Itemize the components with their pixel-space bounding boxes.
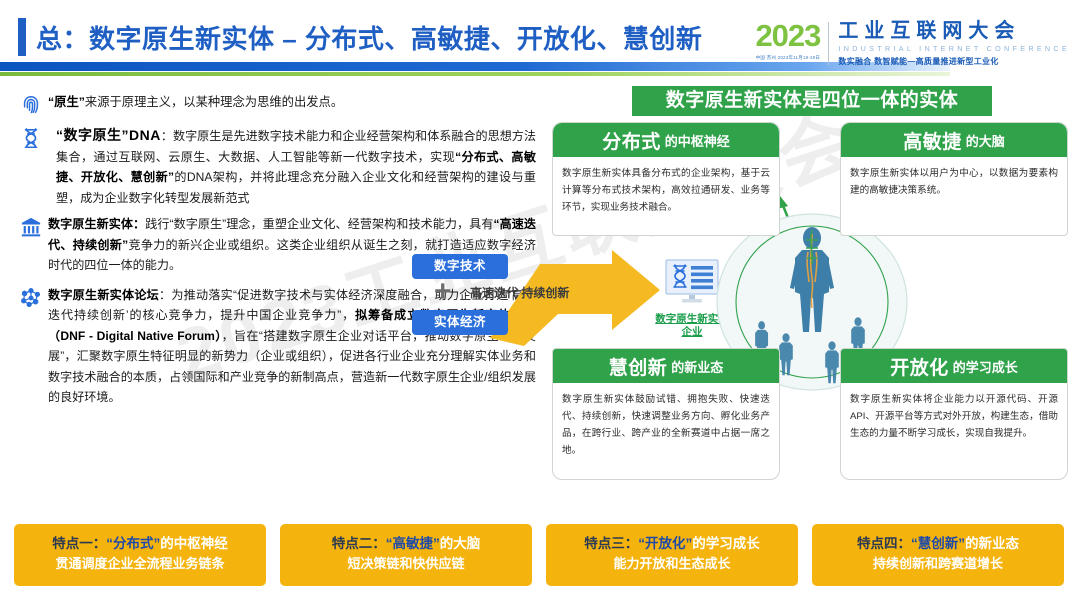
quadrant-body: 数字原生新实体以用户为中心，以数据为要素构建的高敏捷决策系统。 [841, 157, 1067, 235]
quadrant-title-small: 的中枢神经 [665, 131, 730, 150]
bullet-lead: 数字原生新实体论坛 [48, 288, 159, 302]
feature-line1: 特点三：“开放化”的学习成长 [546, 533, 798, 554]
feature-line2: 贯通调度企业全流程业务链条 [14, 554, 266, 574]
feature-prefix: 特点三： [584, 536, 638, 551]
quadrant-header: 慧创新 的新业态 [553, 349, 779, 383]
plus-icon: + [434, 278, 452, 306]
quadrant-card-innovation: 慧创新 的新业态 数字原生新实体鼓励试错、拥抱失败、快速迭代、持续创新，快速调整… [552, 348, 780, 480]
feature-line1: 特点四：“慧创新”的新业态 [812, 533, 1064, 554]
quadrant-title-big: 分布式 [602, 127, 661, 154]
logo-chinese-name: 工业互联网大会 [838, 20, 1070, 43]
network-nodes-icon [14, 285, 48, 408]
logo-slogan: 数实融合 数智赋能—高质量推进新型工业化 [838, 56, 1070, 67]
bullet-text: “数字原生”DNA：数字原生是先进数字技术能力和企业经营架构和体系融合的思想方法… [48, 125, 536, 208]
logo-year: 2023 [755, 20, 820, 52]
feature-line2: 短决策链和快供应链 [280, 554, 532, 574]
feature-suffix: 的大脑 [440, 536, 481, 551]
feature-suffix: 的新业态 [965, 536, 1019, 551]
bullet-item: “原生”来源于原理主义，以某种理念为思维的出发点。 [14, 92, 536, 116]
quadrant-body: 数字原生新实体鼓励试错、拥抱失败、快速迭代、持续创新，快速调整业务方向、孵化业务… [553, 383, 779, 479]
real-economy-chip: 实体经济 [412, 310, 508, 335]
logo-year-block: 2023 中国·苏州 2023年11月19-20日 [755, 20, 828, 61]
header-rule-green [0, 72, 950, 76]
logo-english-name: INDUSTRIAL INTERNET CONFERENCE [838, 44, 1070, 53]
bullet-lead: “数字原生”DNA [56, 127, 161, 143]
bullet-lead: “原生” [48, 95, 85, 109]
feature-prefix: 特点二： [332, 536, 386, 551]
quadrant-card-distributed: 分布式 的中枢神经 数字原生新实体具备分布式的企业架构，基于云计算等分布式技术架… [552, 122, 780, 236]
quadrant-header: 开放化 的学习成长 [841, 349, 1067, 383]
bullet-text: “原生”来源于原理主义，以某种理念为思维的出发点。 [48, 92, 343, 116]
logo-name-block: 工业互联网大会 INDUSTRIAL INTERNET CONFERENCE 数… [838, 20, 1070, 67]
quadrant-card-agile: 高敏捷 的大脑 数字原生新实体以用户为中心，以数据为要素构建的高敏捷决策系统。 [840, 122, 1068, 236]
feature-bar-row: 特点一：“分布式”的中枢神经 贯通调度企业全流程业务链条 特点二：“高敏捷”的大… [0, 524, 1080, 594]
bullet-body-text: 践行“数字原生”理念，重塑企业文化、经营架构和技术能力，具有 [145, 217, 493, 231]
quadrant-title-small: 的大脑 [966, 131, 1005, 150]
feature-quoted: “慧创新” [911, 536, 965, 551]
feature-card-3: 特点三：“开放化”的学习成长 能力开放和生态成长 [546, 524, 798, 586]
digital-technology-chip: 数字技术 [412, 254, 508, 279]
four-in-one-diagram: 数字原生新实体是四位一体的实体 [544, 86, 1080, 510]
institution-icon [14, 214, 48, 276]
feature-prefix: 特点一： [52, 536, 106, 551]
quadrant-title-small: 的学习成长 [953, 357, 1018, 376]
feature-card-2: 特点二：“高敏捷”的大脑 短决策链和快供应链 [280, 524, 532, 586]
quadrant-title-big: 高敏捷 [903, 127, 962, 154]
feature-line1: 特点一：“分布式”的中枢神经 [14, 533, 266, 554]
quadrant-body: 数字原生新实体具备分布式的企业架构，基于云计算等分布式技术架构，高效拉通研发、业… [553, 157, 779, 235]
feature-card-1: 特点一：“分布式”的中枢神经 贯通调度企业全流程业务链条 [14, 524, 266, 586]
feature-card-4: 特点四：“慧创新”的新业态 持续创新和跨赛道增长 [812, 524, 1064, 586]
slide-header: 总：数字原生新实体 – 分布式、高敏捷、开放化、慧创新 2023 中国·苏州 2… [0, 0, 1080, 86]
feature-quoted: “开放化” [638, 536, 692, 551]
quadrant-body: 数字原生新实体将企业能力以开源代码、开源API、开源平台等方式对外开放，构建生态… [841, 383, 1067, 479]
logo-divider [828, 22, 829, 65]
title-group: 总：数字原生新实体 – 分布式、高敏捷、开放化、慧创新 [18, 18, 702, 56]
quadrant-card-open: 开放化 的学习成长 数字原生新实体将企业能力以开源代码、开源API、开源平台等方… [840, 348, 1068, 480]
feature-line2: 能力开放和生态成长 [546, 554, 798, 574]
page-title: 总：数字原生新实体 – 分布式、高敏捷、开放化、慧创新 [36, 19, 702, 56]
feature-line2: 持续创新和跨赛道增长 [812, 554, 1064, 574]
bullet-lead: 数字原生新实体： [48, 217, 145, 231]
bullet-item: “数字原生”DNA：数字原生是先进数字技术能力和企业经营架构和体系融合的思想方法… [14, 125, 536, 208]
feature-quoted: “分布式” [106, 536, 160, 551]
feature-line1: 特点二：“高敏捷”的大脑 [280, 533, 532, 554]
quadrant-title-big: 开放化 [890, 353, 949, 380]
feature-quoted: “高敏捷” [386, 536, 440, 551]
conference-logo: 2023 中国·苏州 2023年11月19-20日 工业互联网大会 INDUST… [755, 20, 1070, 67]
quadrant-title-big: 慧创新 [609, 353, 668, 380]
logo-date: 中国·苏州 2023年11月19-20日 [755, 55, 820, 61]
dna-icon [14, 125, 48, 208]
fingerprint-icon [14, 92, 48, 116]
feature-suffix: 的中枢神经 [160, 536, 228, 551]
quadrant-header: 高敏捷 的大脑 [841, 123, 1067, 157]
bullet-body-text: 来源于原理主义，以某种理念为思维的出发点。 [85, 95, 343, 109]
feature-prefix: 特点四： [857, 536, 911, 551]
quadrant-header: 分布式 的中枢神经 [553, 123, 779, 157]
quadrant-title-small: 的新业态 [671, 357, 723, 376]
title-accent-bar [18, 18, 26, 56]
feature-suffix: 的学习成长 [692, 536, 760, 551]
